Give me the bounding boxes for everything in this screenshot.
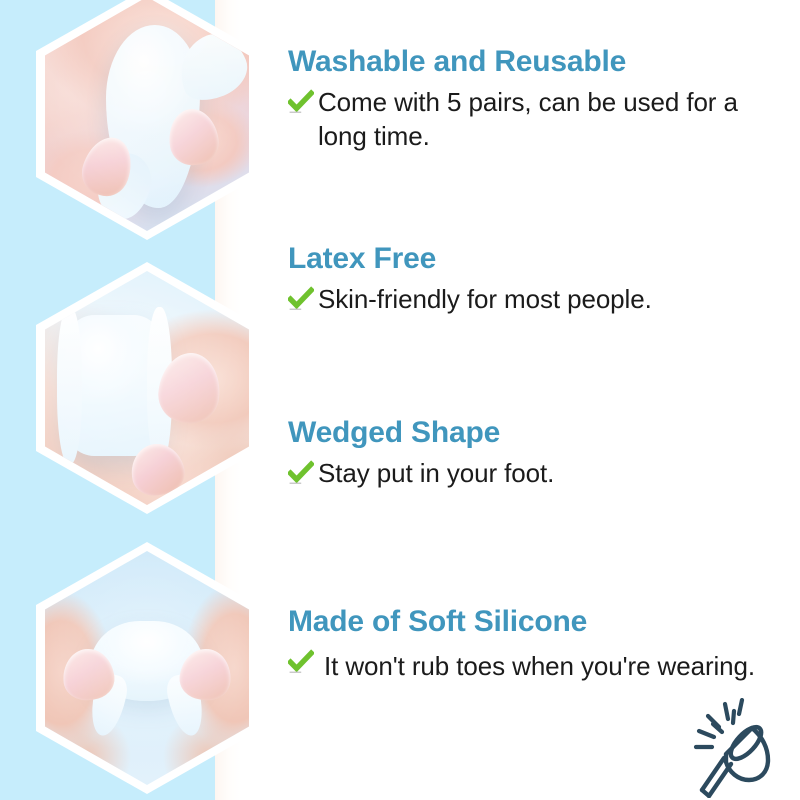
feature-heading-3: Wedged Shape — [288, 417, 788, 449]
hexagon-photo-frame-1 — [36, 0, 258, 240]
feature-block-3: Wedged Shape Stay put in your foot. — [288, 417, 788, 490]
feature-heading-1: Washable and Reusable — [288, 46, 788, 78]
hexagon-photo-frame-2 — [36, 262, 258, 514]
feature-heading-2: Latex Free — [288, 243, 788, 275]
green-check-icon — [288, 460, 314, 486]
green-check-icon — [288, 649, 314, 675]
feature-body-1: Come with 5 pairs, can be used for a lon… — [288, 85, 788, 154]
feature-description-2: Skin-friendly for most people. — [318, 282, 652, 316]
party-popper-icon — [676, 698, 784, 798]
feature-body-3: Stay put in your foot. — [288, 456, 788, 490]
green-check-icon — [288, 89, 314, 115]
feature-block-4: Made of Soft Silicone It won't rub toes … — [288, 606, 793, 687]
feature-description-4: It won't rub toes when you're wearing. — [324, 645, 755, 687]
feature-body-2: Skin-friendly for most people. — [288, 282, 788, 316]
green-check-icon — [288, 286, 314, 312]
feature-description-1: Come with 5 pairs, can be used for a lon… — [318, 85, 788, 154]
feature-description-3: Stay put in your foot. — [318, 456, 554, 490]
feature-block-2: Latex Free Skin-friendly for most people… — [288, 243, 788, 316]
feature-heading-4: Made of Soft Silicone — [288, 606, 793, 638]
spool-spacer-shape — [65, 315, 163, 455]
feature-block-1: Washable and Reusable Come with 5 pairs,… — [288, 46, 788, 153]
hexagon-photo-frame-3 — [36, 542, 258, 794]
infographic-canvas: Washable and Reusable Come with 5 pairs,… — [0, 0, 800, 800]
feature-body-4: It won't rub toes when you're wearing. — [288, 645, 793, 687]
